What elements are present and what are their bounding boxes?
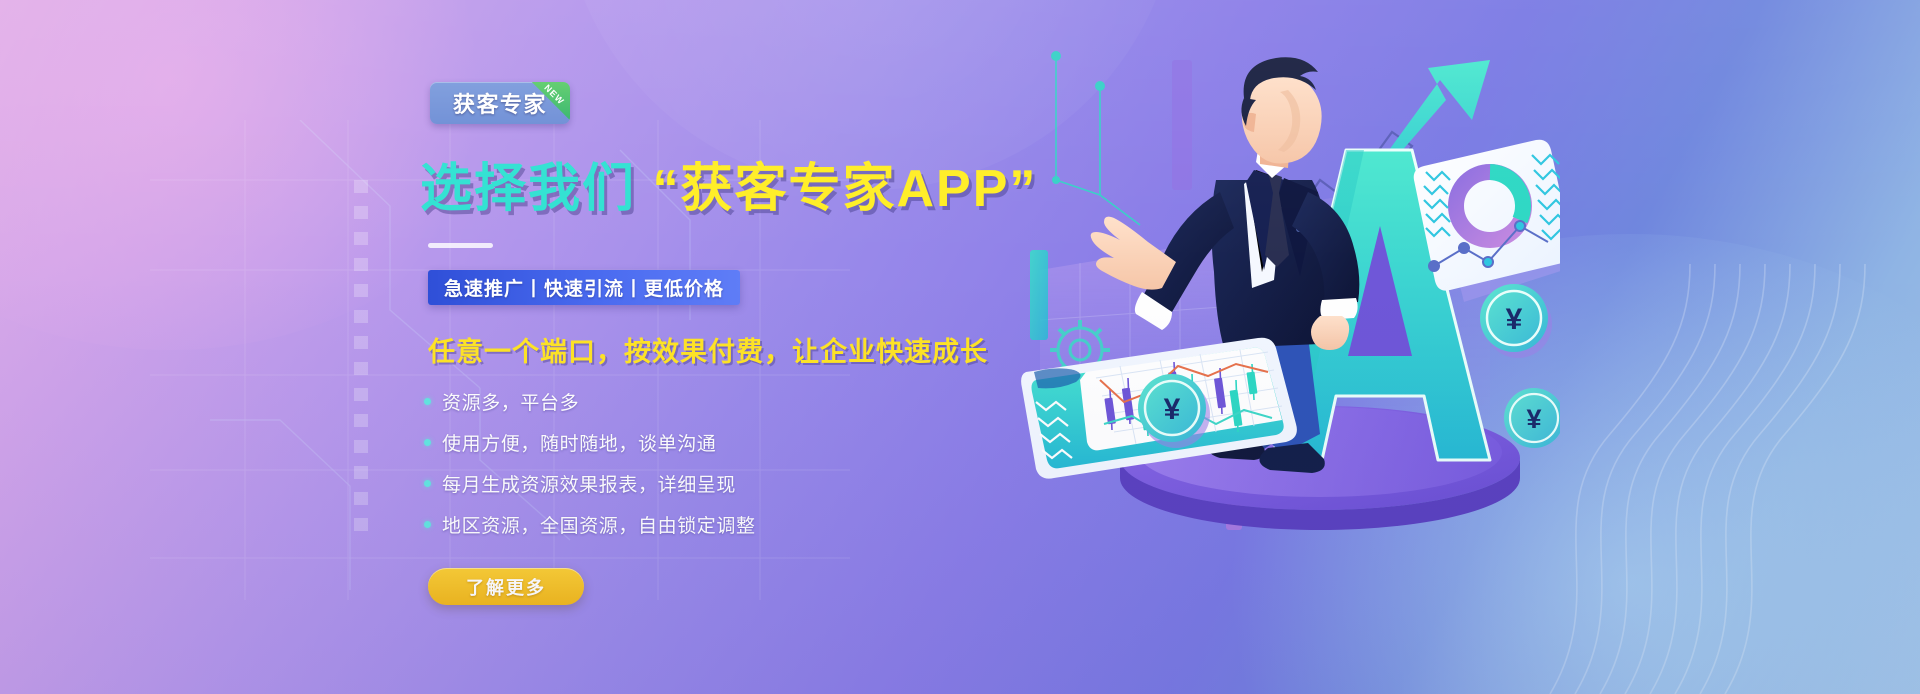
headline-primary: 选择我们 [420, 160, 636, 218]
list-item: 地区资源，全国资源，自由锁定调整 [424, 511, 756, 538]
donut-chart-card [1414, 140, 1560, 302]
yen-coin-right-lower: ¥ [1504, 388, 1560, 448]
list-item-label: 使用方便，随时随地，谈单沟通 [442, 429, 716, 456]
list-item-label: 地区资源，全国资源，自由锁定调整 [442, 511, 756, 538]
title-divider [428, 243, 493, 248]
bullet-dot-icon [424, 480, 431, 487]
dashed-strip-decoration [354, 180, 368, 540]
svg-text:¥: ¥ [1506, 303, 1523, 336]
bullet-dot-icon [424, 398, 431, 405]
feature-strip-text: 急速推广丨快速引流丨更低价格 [444, 274, 724, 301]
bullet-dot-icon [424, 521, 431, 528]
product-tag-badge[interactable]: 获客专家 NEW [430, 82, 570, 124]
list-item-label: 每月生成资源效果报表，详细呈现 [442, 470, 736, 497]
list-item: 每月生成资源效果报表，详细呈现 [424, 470, 756, 497]
tagline: 任意一个端口，按效果付费，让企业快速成长 [428, 330, 988, 369]
yen-coin-right: ¥ [1480, 284, 1552, 358]
feature-list: 资源多，平台多 使用方便，随时随地，谈单沟通 每月生成资源效果报表，详细呈现 地… [424, 388, 756, 552]
feature-strip: 急速推广丨快速引流丨更低价格 [428, 270, 740, 305]
svg-text:¥: ¥ [1526, 404, 1541, 434]
learn-more-button[interactable]: 了解更多 [428, 568, 584, 605]
headline-secondary: “获客专家APP” [652, 160, 1037, 218]
promo-banner: ¥ ¥ ¥ 获客专家 NEW 选择我们 “获客专家APP” [0, 0, 1920, 694]
page-title: 选择我们 “获客专家APP” [420, 163, 1037, 215]
bullet-dot-icon [424, 439, 431, 446]
banner-content: 获客专家 NEW 选择我们 “获客专家APP” 急速推广丨快速引流丨更低价格 任… [430, 0, 1150, 694]
list-item-label: 资源多，平台多 [442, 388, 579, 415]
list-item: 资源多，平台多 [424, 388, 756, 415]
svg-text:¥: ¥ [1164, 393, 1181, 426]
list-item: 使用方便，随时随地，谈单沟通 [424, 429, 756, 456]
